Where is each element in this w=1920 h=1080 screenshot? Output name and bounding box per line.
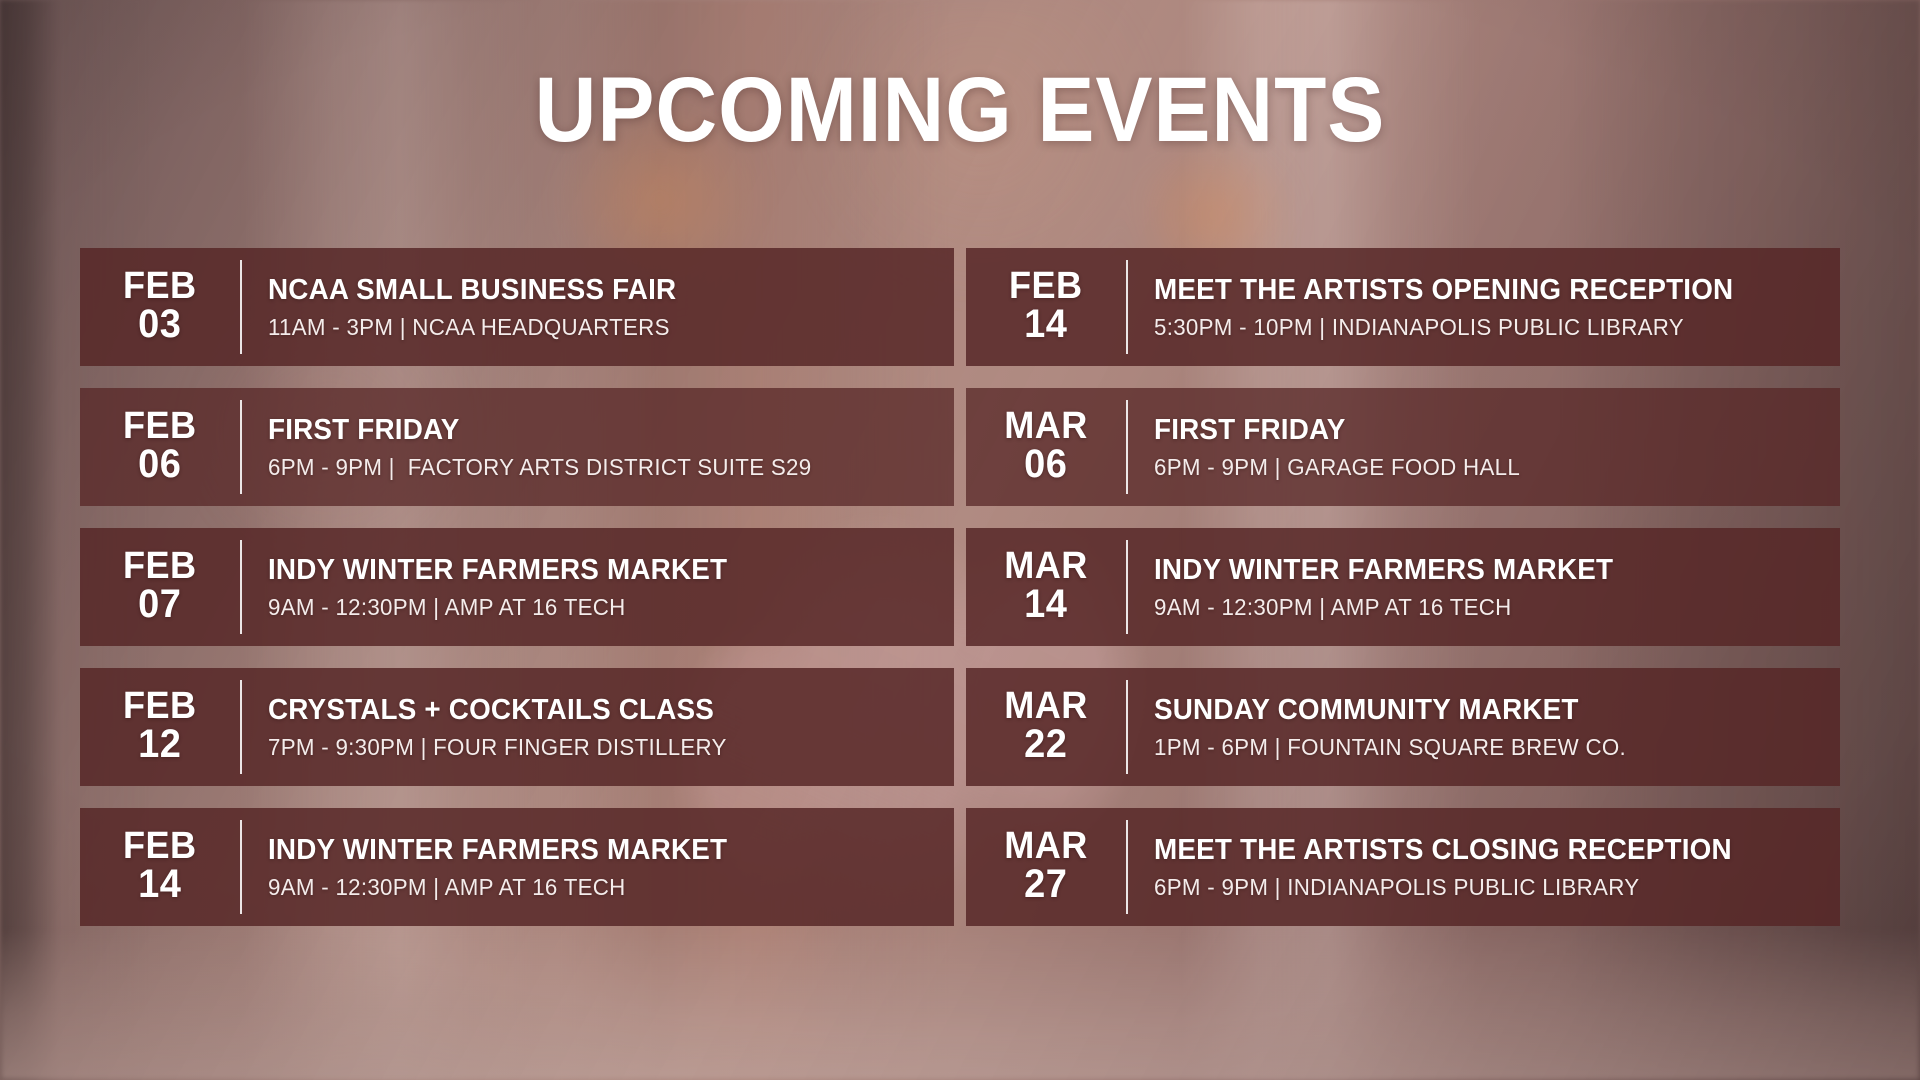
event-month: FEB	[123, 548, 197, 585]
event-meta: 6PM - 9PM | INDIANAPOLIS PUBLIC LIBRARY	[1154, 874, 1794, 900]
event-month: MAR	[1004, 408, 1088, 445]
event-details: INDY WINTER FARMERS MARKET 9AM - 12:30PM…	[242, 528, 954, 646]
event-month: FEB	[123, 828, 197, 865]
event-card[interactable]: MAR 22 SUNDAY COMMUNITY MARKET 1PM - 6PM…	[966, 668, 1840, 786]
event-title: INDY WINTER FARMERS MARKET	[1154, 554, 1788, 587]
event-day: 14	[1024, 585, 1067, 624]
event-details: MEET THE ARTISTS CLOSING RECEPTION 6PM -…	[1128, 808, 1840, 926]
event-date: MAR 27	[966, 808, 1126, 926]
event-title: NCAA SMALL BUSINESS FAIR	[268, 274, 902, 307]
event-details: CRYSTALS + COCKTAILS CLASS 7PM - 9:30PM …	[242, 668, 954, 786]
event-title: CRYSTALS + COCKTAILS CLASS	[268, 694, 902, 727]
event-date: FEB 14	[80, 808, 240, 926]
event-title: MEET THE ARTISTS OPENING RECEPTION	[1154, 274, 1788, 307]
event-day: 12	[138, 725, 181, 764]
event-meta: 9AM - 12:30PM | AMP AT 16 TECH	[1154, 594, 1794, 620]
event-day: 22	[1024, 725, 1067, 764]
event-month: MAR	[1004, 548, 1088, 585]
poster-stage: UPCOMING EVENTS FEB 03 NCAA SMALL BUSINE…	[0, 0, 1920, 1080]
event-month: FEB	[1009, 268, 1083, 305]
event-meta: 6PM - 9PM | GARAGE FOOD HALL	[1154, 454, 1794, 480]
event-day: 14	[138, 865, 181, 904]
event-title: FIRST FRIDAY	[1154, 414, 1788, 447]
event-details: NCAA SMALL BUSINESS FAIR 11AM - 3PM | NC…	[242, 248, 954, 366]
event-card[interactable]: FEB 06 FIRST FRIDAY 6PM - 9PM | FACTORY …	[80, 388, 954, 506]
event-details: FIRST FRIDAY 6PM - 9PM | FACTORY ARTS DI…	[242, 388, 954, 506]
event-day: 07	[138, 585, 181, 624]
event-title: INDY WINTER FARMERS MARKET	[268, 554, 902, 587]
event-card[interactable]: FEB 07 INDY WINTER FARMERS MARKET 9AM - …	[80, 528, 954, 646]
event-date: FEB 07	[80, 528, 240, 646]
event-month: MAR	[1004, 688, 1088, 725]
event-title: SUNDAY COMMUNITY MARKET	[1154, 694, 1788, 727]
event-date: FEB 12	[80, 668, 240, 786]
event-month: MAR	[1004, 828, 1088, 865]
event-card[interactable]: FEB 14 INDY WINTER FARMERS MARKET 9AM - …	[80, 808, 954, 926]
event-card[interactable]: FEB 03 NCAA SMALL BUSINESS FAIR 11AM - 3…	[80, 248, 954, 366]
event-card[interactable]: FEB 14 MEET THE ARTISTS OPENING RECEPTIO…	[966, 248, 1840, 366]
event-month: FEB	[123, 408, 197, 445]
event-date: MAR 06	[966, 388, 1126, 506]
event-day: 14	[1024, 305, 1067, 344]
event-meta: 5:30PM - 10PM | INDIANAPOLIS PUBLIC LIBR…	[1154, 314, 1794, 340]
event-details: MEET THE ARTISTS OPENING RECEPTION 5:30P…	[1128, 248, 1840, 366]
event-meta: 7PM - 9:30PM | FOUR FINGER DISTILLERY	[268, 734, 908, 760]
event-card[interactable]: MAR 14 INDY WINTER FARMERS MARKET 9AM - …	[966, 528, 1840, 646]
event-date: FEB 06	[80, 388, 240, 506]
event-meta: 9AM - 12:30PM | AMP AT 16 TECH	[268, 594, 908, 620]
event-day: 06	[138, 445, 181, 484]
event-card[interactable]: FEB 12 CRYSTALS + COCKTAILS CLASS 7PM - …	[80, 668, 954, 786]
event-month: FEB	[123, 268, 197, 305]
event-date: FEB 14	[966, 248, 1126, 366]
event-meta: 6PM - 9PM | FACTORY ARTS DISTRICT SUITE …	[268, 454, 908, 480]
event-date: FEB 03	[80, 248, 240, 366]
event-date: MAR 22	[966, 668, 1126, 786]
event-details: INDY WINTER FARMERS MARKET 9AM - 12:30PM…	[1128, 528, 1840, 646]
event-title: MEET THE ARTISTS CLOSING RECEPTION	[1154, 834, 1788, 867]
event-day: 06	[1024, 445, 1067, 484]
event-day: 27	[1024, 865, 1067, 904]
event-meta: 1PM - 6PM | FOUNTAIN SQUARE BREW CO.	[1154, 734, 1794, 760]
event-day: 03	[138, 305, 181, 344]
event-details: FIRST FRIDAY 6PM - 9PM | GARAGE FOOD HAL…	[1128, 388, 1840, 506]
event-card[interactable]: MAR 06 FIRST FRIDAY 6PM - 9PM | GARAGE F…	[966, 388, 1840, 506]
event-details: SUNDAY COMMUNITY MARKET 1PM - 6PM | FOUN…	[1128, 668, 1840, 786]
event-date: MAR 14	[966, 528, 1126, 646]
event-month: FEB	[123, 688, 197, 725]
event-meta: 9AM - 12:30PM | AMP AT 16 TECH	[268, 874, 908, 900]
event-details: INDY WINTER FARMERS MARKET 9AM - 12:30PM…	[242, 808, 954, 926]
page-title: UPCOMING EVENTS	[67, 64, 1853, 156]
event-title: FIRST FRIDAY	[268, 414, 902, 447]
event-card[interactable]: MAR 27 MEET THE ARTISTS CLOSING RECEPTIO…	[966, 808, 1840, 926]
event-meta: 11AM - 3PM | NCAA HEADQUARTERS	[268, 314, 908, 340]
events-grid: FEB 03 NCAA SMALL BUSINESS FAIR 11AM - 3…	[80, 248, 1840, 926]
event-title: INDY WINTER FARMERS MARKET	[268, 834, 902, 867]
